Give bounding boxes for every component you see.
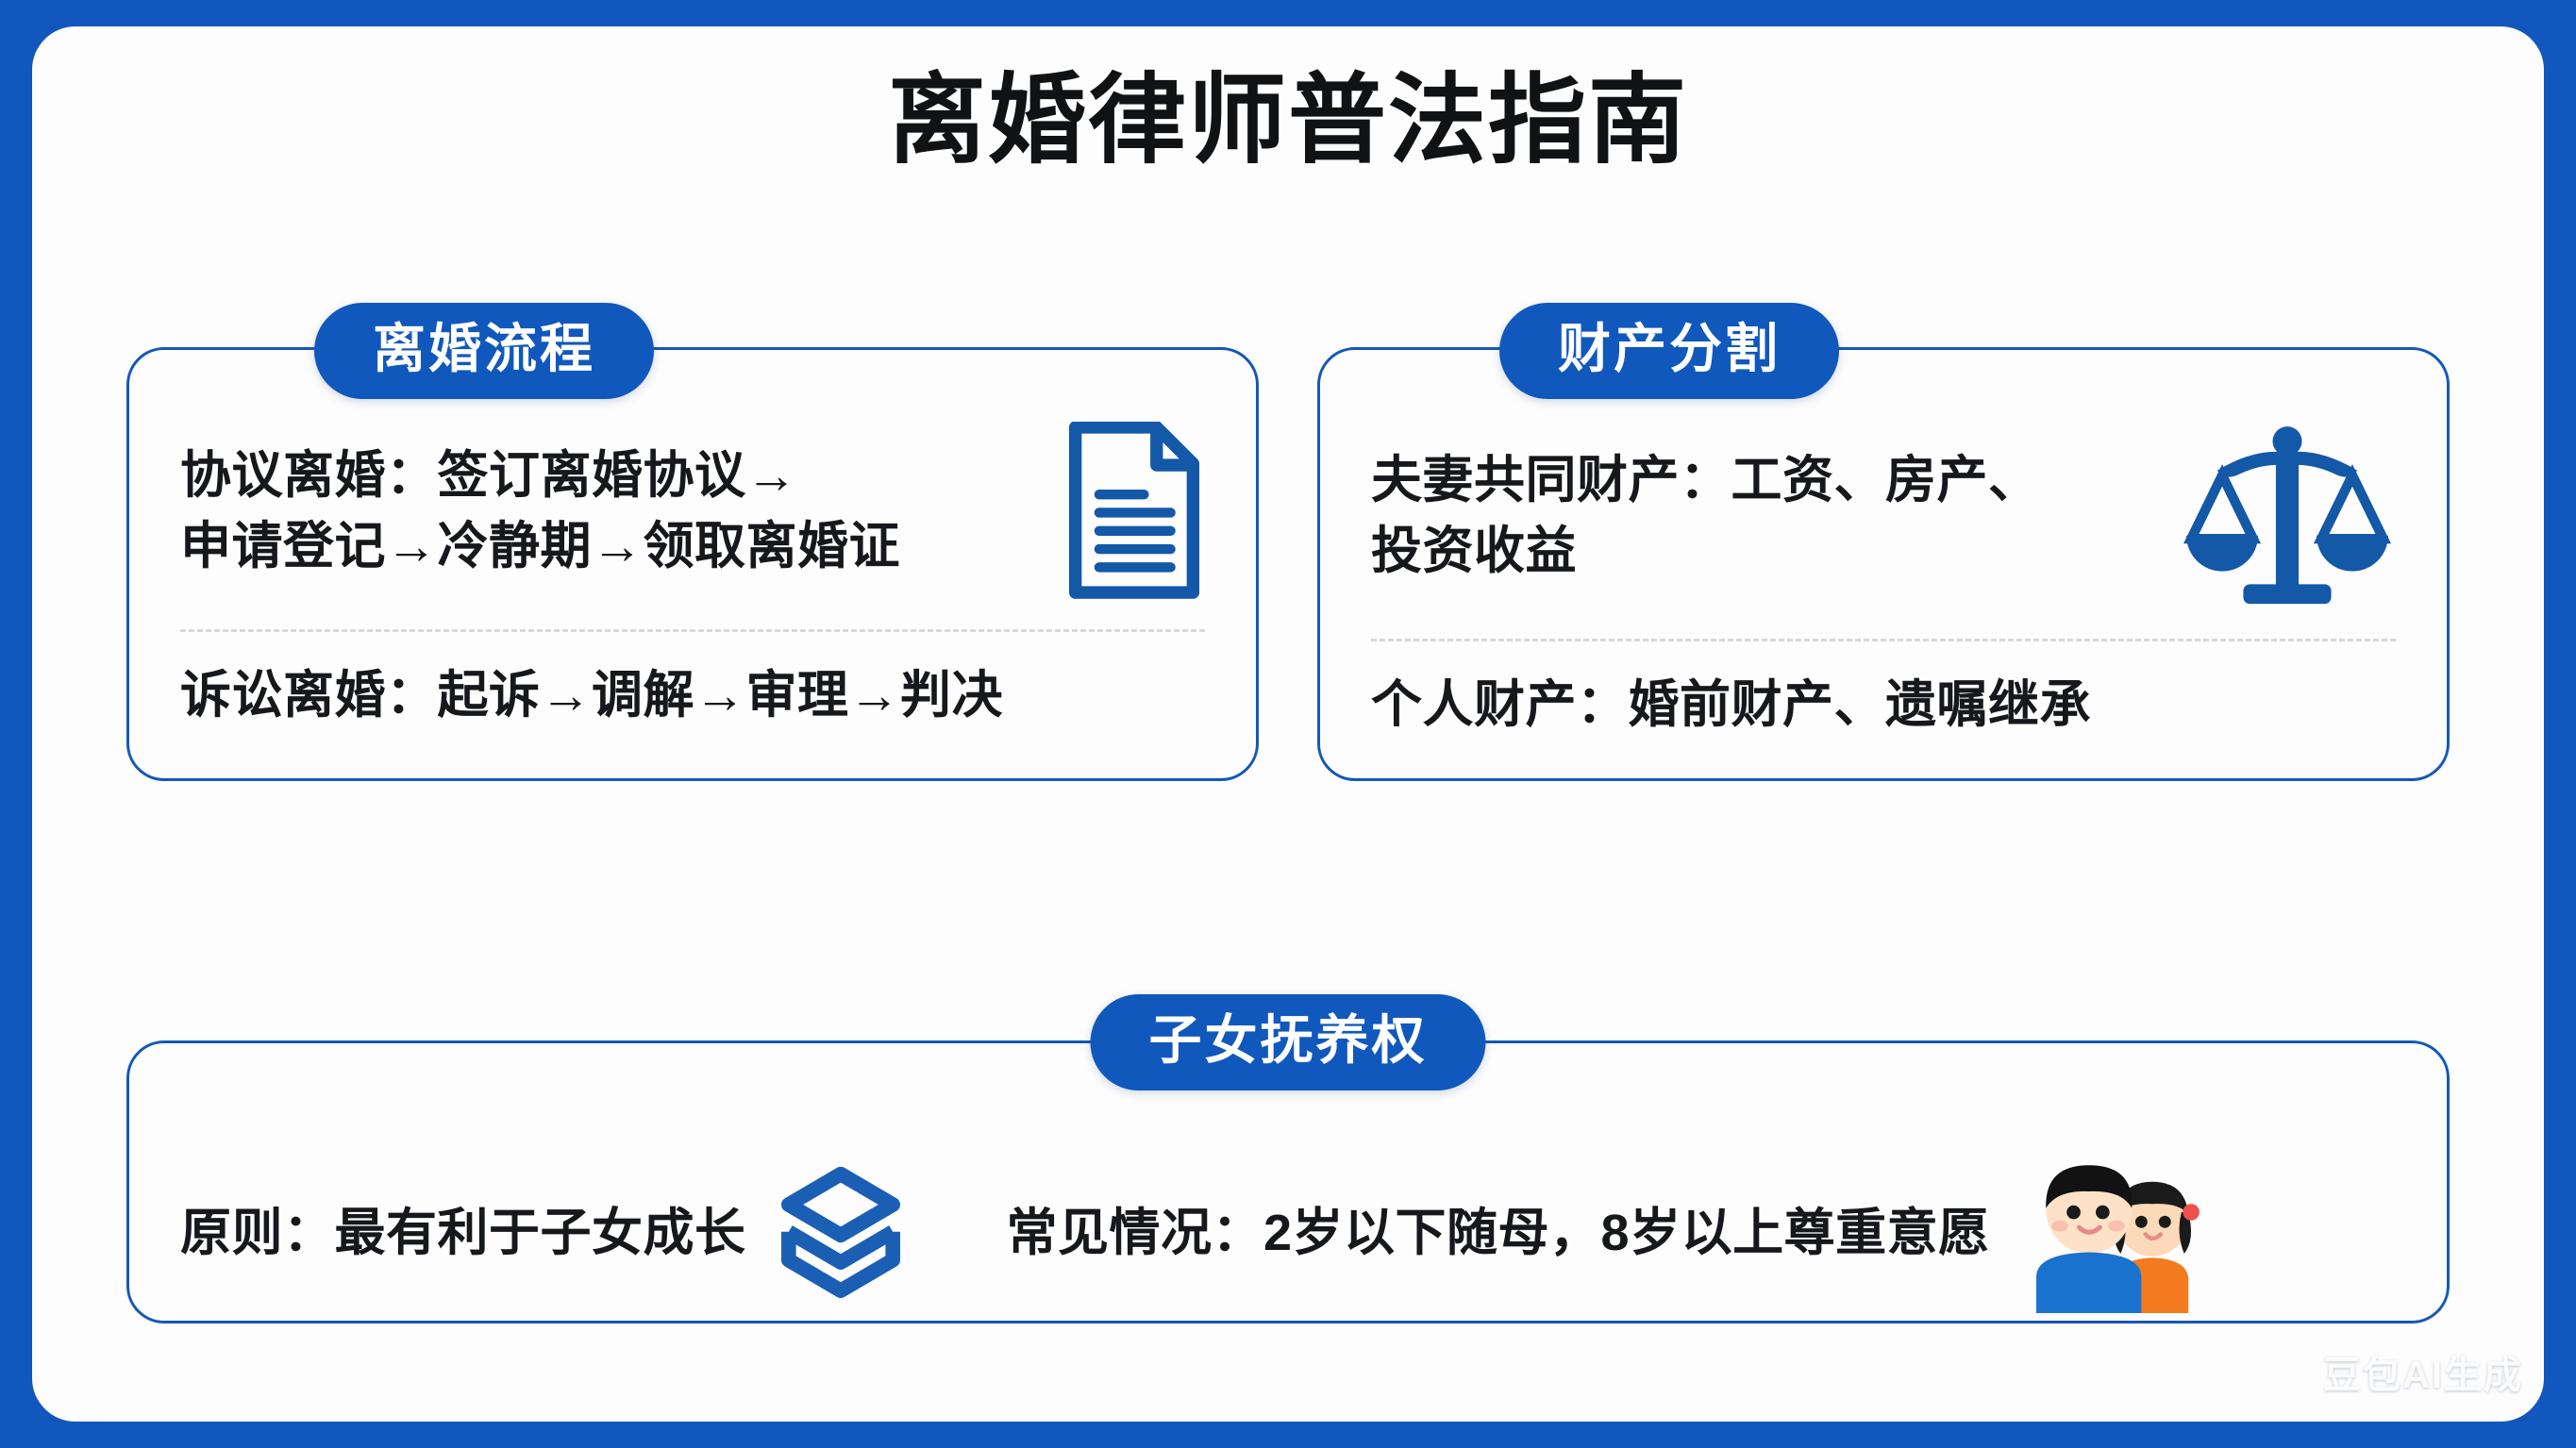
cards-row: 离婚流程 协议离婚：签订离婚协议→ 申请登记→冷静期→领取离婚证 xyxy=(126,347,2450,781)
scales-icon xyxy=(2179,422,2396,610)
card-body-property-division: 夫妻共同财产：工资、房产、 投资收益 xyxy=(1371,422,2396,610)
custody-principle-text: 原则：最有利于子女成长 xyxy=(180,1198,746,1269)
document-icon xyxy=(1063,422,1205,601)
custody-body: 原则：最有利于子女成长 常见情况：2岁以下随母，8岁以上尊重意愿 xyxy=(180,1153,2396,1313)
property-line-2: 投资收益 xyxy=(1371,516,2040,587)
property-line-1: 夫妻共同财产：工资、房产、 xyxy=(1371,445,2040,516)
card-child-custody: 子女抚养权 原则：最有利于子女成长 常见情况：2岁以下随母，8岁以上尊重意愿 xyxy=(126,1040,2450,1323)
card-body-divorce-process: 协议离婚：签订离婚协议→ 申请登记→冷静期→领取离婚证 xyxy=(180,422,1205,601)
slide-stage: 离婚律师普法指南 离婚流程 协议离婚：签订离婚协议→ 申请登记→冷静期→领取离婚… xyxy=(0,0,2576,1448)
process-line-2: 申请登记→冷静期→领取离婚证 xyxy=(180,511,900,582)
card-divider-process xyxy=(180,629,1205,632)
property-footer-text: 个人财产：婚前财产、遗嘱继承 xyxy=(1371,670,2396,741)
card-divider-property xyxy=(1371,639,2396,641)
process-line-1: 协议离婚：签订离婚协议→ xyxy=(180,441,900,511)
card-divorce-process: 离婚流程 协议离婚：签订离婚协议→ 申请登记→冷静期→领取离婚证 xyxy=(126,347,1259,781)
card-property-division: 财产分割 夫妻共同财产：工资、房产、 投资收益 xyxy=(1317,347,2450,781)
process-text-block: 协议离婚：签订离婚协议→ 申请登记→冷静期→领取离婚证 xyxy=(180,441,900,581)
content-panel: 离婚律师普法指南 离婚流程 协议离婚：签订离婚协议→ 申请登记→冷静期→领取离婚… xyxy=(32,26,2544,1422)
process-footer-text: 诉讼离婚：起诉→调解→审理→判决 xyxy=(180,660,1205,731)
children-boy-girl-icon xyxy=(2022,1153,2211,1313)
custody-common-case-text: 常见情况：2岁以下随母，8岁以上尊重意愿 xyxy=(1007,1198,1990,1269)
card-badge-divorce-process[interactable]: 离婚流程 xyxy=(314,303,654,399)
layers-stack-icon xyxy=(778,1167,903,1299)
custody-case-group: 常见情况：2岁以下随母，8岁以上尊重意愿 xyxy=(1007,1153,2211,1313)
page-title: 离婚律师普法指南 xyxy=(32,62,2544,180)
card-badge-child-custody[interactable]: 子女抚养权 xyxy=(1091,994,1486,1090)
property-text-block: 夫妻共同财产：工资、房产、 投资收益 xyxy=(1371,445,2040,586)
watermark-label: 豆包AI生成 xyxy=(2323,1344,2523,1399)
custody-principle-group: 原则：最有利于子女成长 xyxy=(180,1167,903,1299)
card-badge-property-division[interactable]: 财产分割 xyxy=(1499,303,1839,399)
